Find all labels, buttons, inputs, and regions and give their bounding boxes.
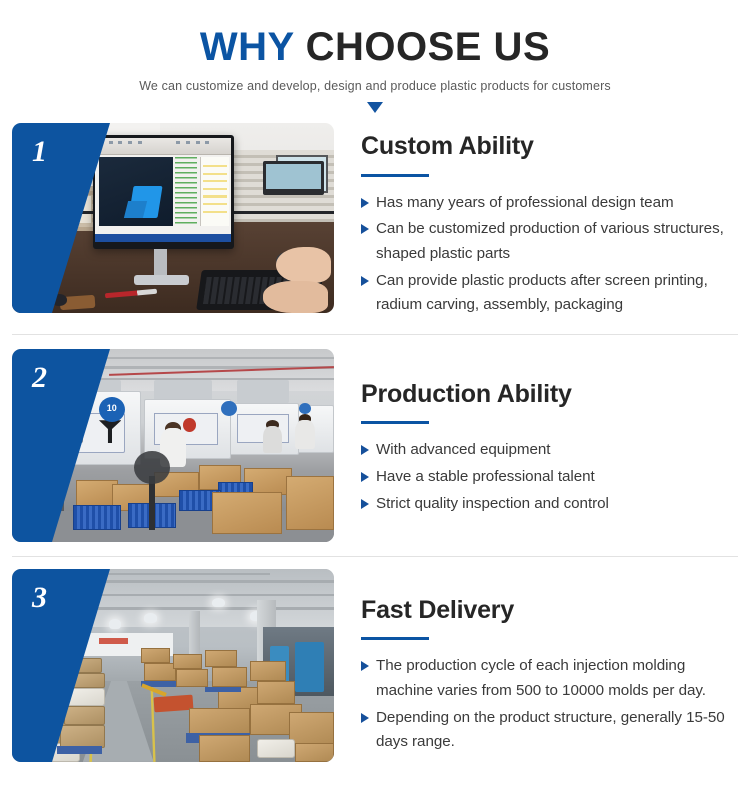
title-underline-2: [361, 421, 429, 424]
list-item: Can be customized production of various …: [361, 217, 738, 266]
arrow-right-icon: [361, 198, 369, 208]
list-item: Can provide plastic products after scree…: [361, 269, 738, 318]
bullet-text: Has many years of professional design te…: [376, 191, 674, 216]
section-title-1: Custom Ability: [361, 133, 738, 161]
list-item: Strict quality inspection and control: [361, 492, 738, 517]
warehouse-packed-goods-photo: [12, 569, 334, 762]
list-item: Depending on the product structure, gene…: [361, 706, 738, 755]
content-production-ability: Production Ability With advanced equipme…: [334, 349, 738, 518]
page-title: WHY CHOOSE US: [0, 26, 750, 69]
feature-section-fast-delivery: 3 Fast Delivery The production cycle of …: [0, 569, 750, 762]
bullet-text: With advanced equipment: [376, 438, 550, 463]
why-choose-us-page: WHY CHOOSE US We can customize and devel…: [0, 0, 750, 797]
bullet-text: Can provide plastic products after scree…: [376, 269, 738, 318]
section-divider-1: [12, 334, 738, 335]
arrow-right-icon: [361, 224, 369, 234]
list-item: Has many years of professional design te…: [361, 191, 738, 216]
arrow-right-icon: [361, 713, 369, 723]
section-number-1: 1: [32, 137, 47, 167]
injection-molding-factory-floor-photo: 10: [12, 349, 334, 542]
section-number-2: 2: [32, 363, 47, 393]
section-divider-2: [12, 556, 738, 557]
section-number-3: 3: [32, 583, 47, 613]
bullet-list-3: The production cycle of each injection m…: [361, 654, 738, 755]
feature-section-production-ability: 10: [0, 349, 750, 542]
arrow-right-icon: [361, 499, 369, 509]
bullet-text: Strict quality inspection and control: [376, 492, 609, 517]
bullet-text: Have a stable professional talent: [376, 465, 595, 490]
machine-number-label: 10: [99, 397, 125, 422]
bullet-list-2: With advanced equipment Have a stable pr…: [361, 438, 738, 516]
list-item: The production cycle of each injection m…: [361, 654, 738, 703]
arrow-right-icon: [361, 445, 369, 455]
engineer-cad-workstation-photo: [12, 123, 334, 313]
content-fast-delivery: Fast Delivery The production cycle of ea…: [334, 569, 738, 757]
page-subtitle: We can customize and develop, design and…: [0, 79, 750, 93]
bullet-text: Can be customized production of various …: [376, 217, 738, 266]
section-title-2: Production Ability: [361, 381, 738, 409]
bullet-text: Depending on the product structure, gene…: [376, 706, 738, 755]
photo-custom-ability: 1: [12, 123, 334, 313]
page-header: WHY CHOOSE US We can customize and devel…: [0, 0, 750, 113]
arrow-right-icon: [361, 276, 369, 286]
list-item: With advanced equipment: [361, 438, 738, 463]
feature-section-custom-ability: 1 Custom Ability Has many years of profe…: [0, 123, 750, 320]
content-custom-ability: Custom Ability Has many years of profess…: [334, 123, 738, 320]
title-underline-3: [361, 637, 429, 640]
section-title-3: Fast Delivery: [361, 597, 738, 625]
arrow-right-icon: [361, 661, 369, 671]
list-item: Have a stable professional talent: [361, 465, 738, 490]
photo-fast-delivery: 3: [12, 569, 334, 762]
photo-production-ability: 10: [12, 349, 334, 542]
bullet-text: The production cycle of each injection m…: [376, 654, 738, 703]
down-triangle-icon: [367, 102, 383, 113]
arrow-right-icon: [361, 472, 369, 482]
page-title-rest: CHOOSE US: [294, 25, 550, 69]
bullet-list-1: Has many years of professional design te…: [361, 191, 738, 318]
title-underline-1: [361, 174, 429, 177]
page-title-accent: WHY: [200, 25, 294, 69]
